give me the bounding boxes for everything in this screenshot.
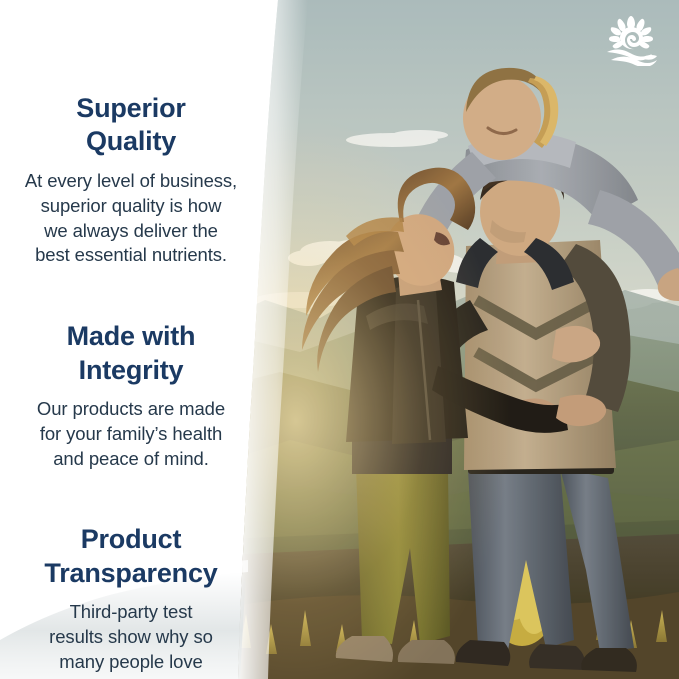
body-line: Third-party test bbox=[14, 600, 248, 625]
sun-over-waves-logo bbox=[601, 14, 663, 66]
heading-line-1: Made with bbox=[67, 321, 196, 351]
body-line: and peace of mind. bbox=[14, 447, 248, 472]
body-line: At every level of business, bbox=[14, 169, 248, 194]
heading-line-1: Superior bbox=[76, 93, 185, 123]
body-line: results show why so bbox=[14, 625, 248, 650]
heading-product-transparency: Product Transparency bbox=[14, 523, 248, 590]
heading-made-with-integrity: Made with Integrity bbox=[14, 320, 248, 387]
body-line: for your family’s health bbox=[14, 422, 248, 447]
heading-superior-quality: Superior Quality bbox=[14, 92, 248, 159]
body-product-transparency: Third-party test results show why so man… bbox=[14, 600, 248, 679]
promo-graphic: Superior Quality At every level of busin… bbox=[0, 0, 679, 679]
heading-line-2: Quality bbox=[86, 126, 176, 156]
heading-line-1: Product bbox=[81, 524, 182, 554]
value-props-column: Superior Quality At every level of busin… bbox=[0, 0, 262, 679]
body-line: best essential nutrients. bbox=[14, 243, 248, 268]
body-line: many people love bbox=[14, 650, 248, 675]
heading-line-2: Integrity bbox=[79, 355, 184, 385]
body-line: Our products are made bbox=[14, 397, 248, 422]
body-superior-quality: At every level of business, superior qua… bbox=[14, 169, 248, 268]
body-line: we always deliver the bbox=[14, 219, 248, 244]
body-line: superior quality is how bbox=[14, 194, 248, 219]
body-made-with-integrity: Our products are made for your family’s … bbox=[14, 397, 248, 471]
value-prop-superior-quality: Superior Quality At every level of busin… bbox=[14, 92, 248, 268]
value-prop-made-with-integrity: Made with Integrity Our products are mad… bbox=[14, 320, 248, 471]
body-line: Nordic Naturals. bbox=[14, 675, 248, 679]
value-prop-product-transparency: Product Transparency Third-party test re… bbox=[14, 523, 248, 679]
heading-line-2: Transparency bbox=[44, 558, 217, 588]
